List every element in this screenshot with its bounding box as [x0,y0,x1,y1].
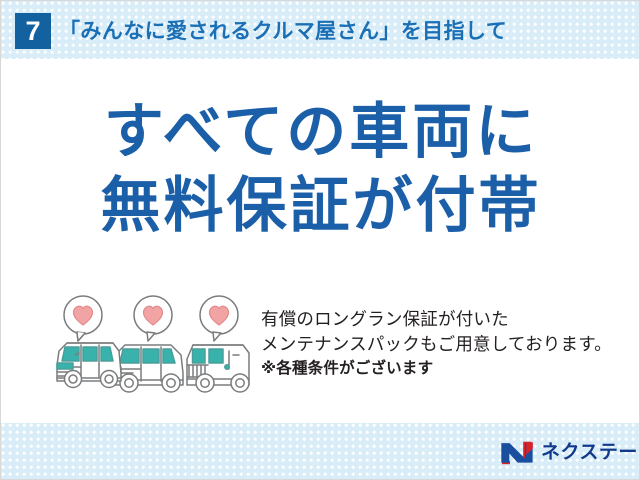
n-mark-icon [500,441,534,465]
headline-line-1: すべての車両に [1,95,640,169]
body-copy: 有償のロングラン保証が付いた メンテナンスパックもご用意しております。 ※各種条… [261,307,631,381]
car-minivan [113,345,183,392]
promo-banner: 7 「みんなに愛されるクルマ屋さん」を目指して すべての車両に 無料保証が付帯 [0,0,640,480]
body-copy-line-2: メンテナンスパックもご用意しております。 [261,332,631,357]
brand-logo: ネクステージ [500,439,640,467]
page-title: すべての車両に 無料保証が付帯 [1,95,640,243]
step-number-badge: 7 [15,13,51,49]
header-title: 「みんなに愛されるクルマ屋さん」を目指して [59,17,507,47]
car-kei-box-van [57,343,121,388]
body-copy-line-1: 有償のロングラン保証が付いた [261,307,631,332]
brand-name: ネクステージ [541,441,640,465]
car-boxy-suv [187,345,249,392]
headline-line-2: 無料保証が付帯 [1,169,640,243]
three-cars-illustration [53,293,253,401]
body-copy-note: ※各種条件がございます [261,357,631,381]
